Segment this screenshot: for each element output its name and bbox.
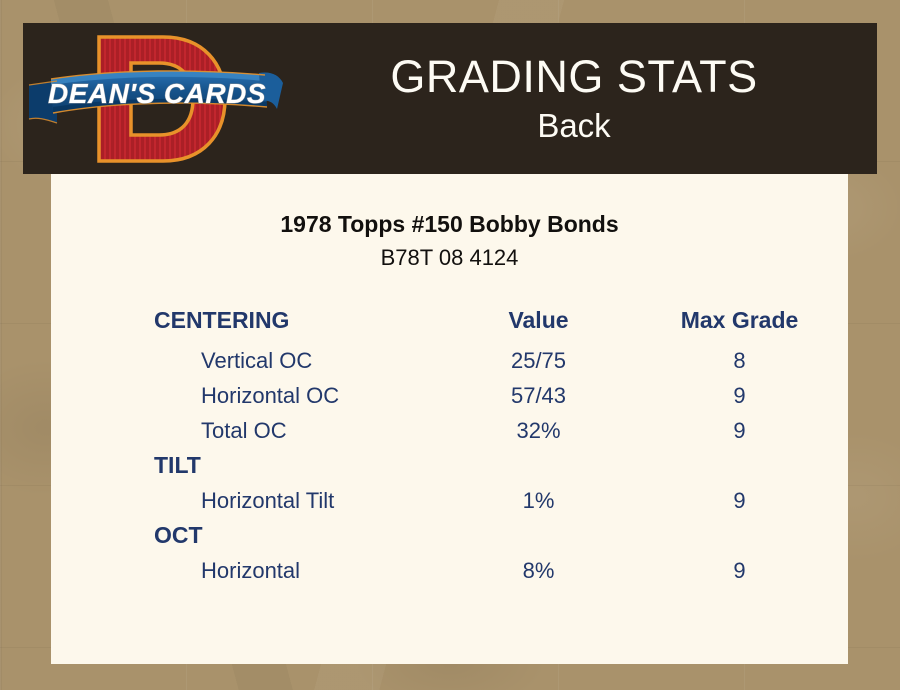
table-row: Vertical OC 25/75 8	[51, 343, 848, 378]
section-spacer	[446, 518, 631, 553]
grading-stats-table: CENTERING Value Max Grade Vertical OC 25…	[51, 305, 848, 588]
stat-grade: 8	[631, 343, 848, 378]
stat-label: Horizontal Tilt	[51, 483, 446, 518]
stat-grade: 9	[631, 378, 848, 413]
table-body: Vertical OC 25/75 8 Horizontal OC 57/43 …	[51, 343, 848, 588]
column-header-max-grade: Max Grade	[631, 305, 848, 343]
section-spacer	[631, 448, 848, 483]
stat-value: 57/43	[446, 378, 631, 413]
column-header-value: Value	[446, 305, 631, 343]
page-title: GRADING STATS	[285, 51, 863, 103]
stat-grade: 9	[631, 553, 848, 588]
section-title-oct: OCT	[51, 518, 446, 553]
section-header-row: TILT	[51, 448, 848, 483]
stat-label: Horizontal	[51, 553, 446, 588]
stat-label: Horizontal OC	[51, 378, 446, 413]
column-header-centering: CENTERING	[51, 305, 446, 343]
section-spacer	[631, 518, 848, 553]
logo-wordmark: DEAN'S CARDS	[48, 78, 266, 109]
stat-grade: 9	[631, 483, 848, 518]
table-row: Horizontal OC 57/43 9	[51, 378, 848, 413]
header-title-block: GRADING STATS Back	[285, 51, 877, 147]
stat-label: Vertical OC	[51, 343, 446, 378]
stat-grade: 9	[631, 413, 848, 448]
content-panel: 1978 Topps #150 Bobby Bonds B78T 08 4124…	[51, 174, 848, 664]
stat-value: 8%	[446, 553, 631, 588]
deans-cards-logo[interactable]: DEAN'S CARDS	[23, 23, 285, 174]
app-header: DEAN'S CARDS GRADING STATS Back	[23, 23, 877, 174]
table-row: Horizontal 8% 9	[51, 553, 848, 588]
logo-ribbon: DEAN'S CARDS	[27, 67, 285, 129]
stat-value: 32%	[446, 413, 631, 448]
stat-value: 1%	[446, 483, 631, 518]
section-title-tilt: TILT	[51, 448, 446, 483]
table-row: Total OC 32% 9	[51, 413, 848, 448]
table-row: Horizontal Tilt 1% 9	[51, 483, 848, 518]
section-header-row: OCT	[51, 518, 848, 553]
table-header-row: CENTERING Value Max Grade	[51, 305, 848, 343]
page-subtitle: Back	[285, 105, 863, 147]
card-title: 1978 Topps #150 Bobby Bonds	[51, 209, 848, 239]
stat-value: 25/75	[446, 343, 631, 378]
section-spacer	[446, 448, 631, 483]
card-serial-number: B78T 08 4124	[51, 242, 848, 274]
stat-label: Total OC	[51, 413, 446, 448]
